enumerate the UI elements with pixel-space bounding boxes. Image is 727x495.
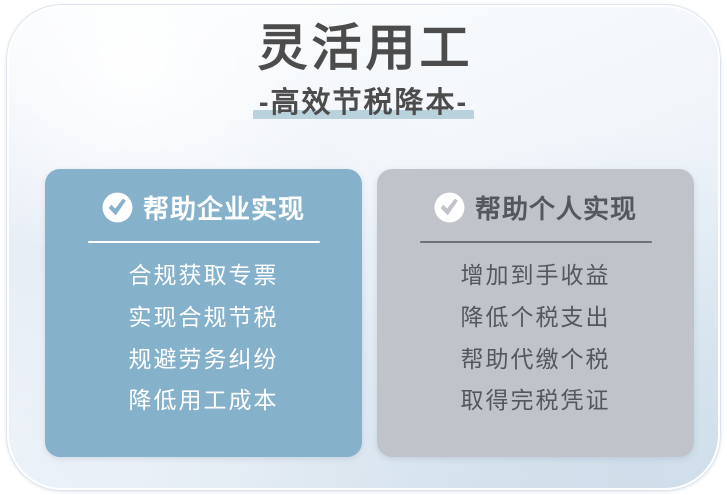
list-item: 规避劳务纠纷 <box>129 345 279 374</box>
list-item: 帮助代缴个税 <box>461 345 611 374</box>
subtitle-block: -高效节税降本- <box>253 85 474 121</box>
card-individual-title: 帮助个人实现 <box>475 189 637 226</box>
list-item: 合规获取专票 <box>129 261 279 290</box>
card-individual-header: 帮助个人实现 <box>434 188 637 226</box>
card-container: 帮助企业实现 合规获取专票 实现合规节税 规避劳务纠纷 降低用工成本 帮助个人实… <box>45 169 694 457</box>
card-enterprise-list: 合规获取专票 实现合规节税 规避劳务纠纷 降低用工成本 <box>65 261 342 415</box>
poster-root: 灵活用工 -高效节税降本- 帮助企业实现 合规获取专票 实现合规节税 <box>0 0 727 495</box>
list-item: 实现合规节税 <box>129 303 279 332</box>
card-individual[interactable]: 帮助个人实现 增加到手收益 降低个税支出 帮助代缴个税 取得完税凭证 <box>377 169 694 457</box>
check-circle-icon <box>434 192 465 223</box>
page-title: 灵活用工 <box>6 20 721 76</box>
list-item: 增加到手收益 <box>461 261 611 290</box>
header-block: 灵活用工 -高效节税降本- <box>6 20 721 121</box>
page-subtitle: -高效节税降本- <box>259 87 468 119</box>
list-item: 降低个税支出 <box>461 303 611 332</box>
list-item: 降低用工成本 <box>129 386 279 415</box>
card-individual-list: 增加到手收益 降低个税支出 帮助代缴个税 取得完税凭证 <box>397 261 674 415</box>
card-enterprise-divider <box>88 241 320 243</box>
card-individual-divider <box>420 241 652 243</box>
check-circle-icon <box>102 192 133 223</box>
card-enterprise-title: 帮助企业实现 <box>143 189 305 226</box>
card-enterprise[interactable]: 帮助企业实现 合规获取专票 实现合规节税 规避劳务纠纷 降低用工成本 <box>45 169 362 457</box>
poster-frame: 灵活用工 -高效节税降本- 帮助企业实现 合规获取专票 实现合规节税 <box>6 4 721 491</box>
card-enterprise-header: 帮助企业实现 <box>102 188 305 226</box>
list-item: 取得完税凭证 <box>461 386 611 415</box>
